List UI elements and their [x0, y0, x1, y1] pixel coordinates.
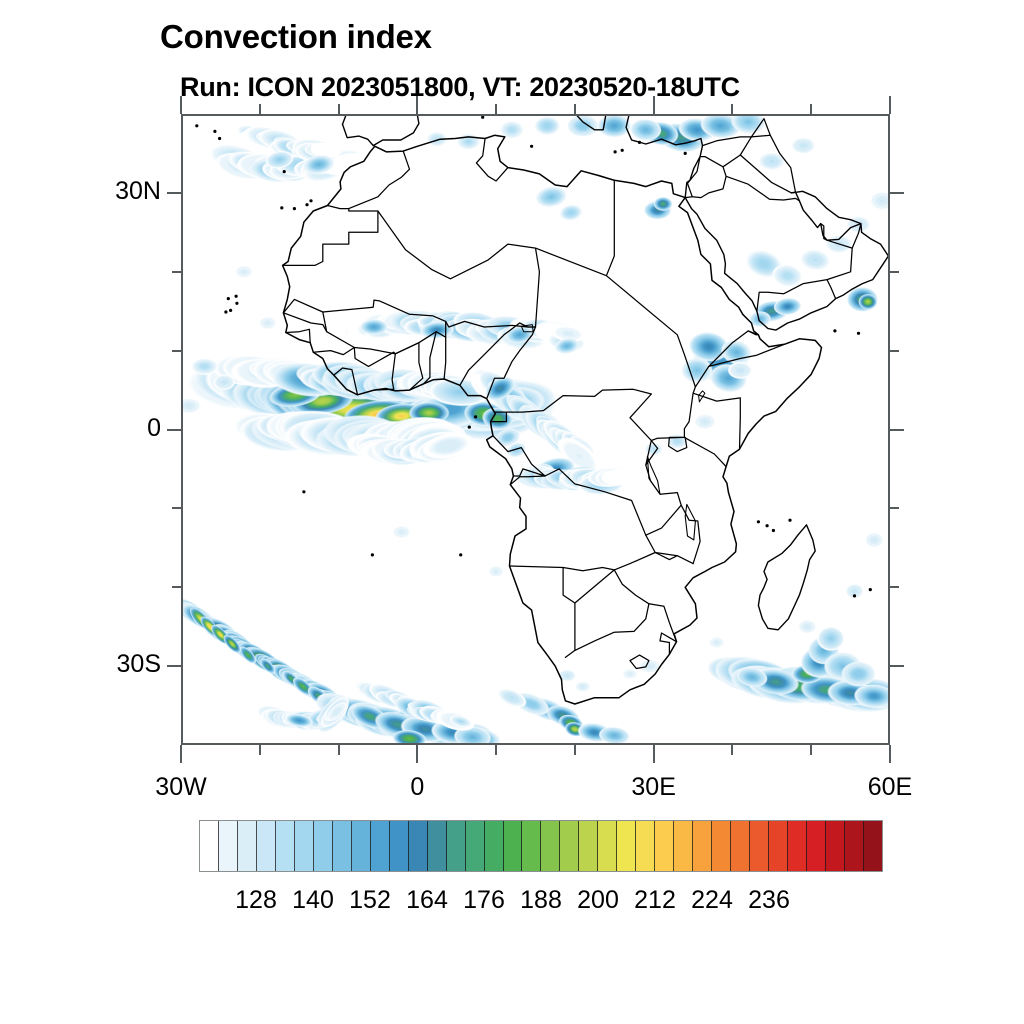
island-marker — [869, 588, 872, 591]
convection-blob — [257, 315, 279, 331]
country-border — [726, 176, 799, 201]
colorbar-cell — [617, 821, 636, 871]
colorbar-cell — [826, 821, 845, 871]
convection-blob — [841, 661, 876, 686]
convection-blob — [557, 202, 585, 224]
country-border — [684, 437, 726, 466]
colorbar-cell — [522, 821, 541, 871]
convection-blob — [870, 191, 891, 210]
country-border — [649, 604, 677, 642]
island-marker — [530, 145, 533, 148]
country-border — [313, 348, 354, 355]
convection-blob — [817, 626, 845, 651]
island-marker — [621, 149, 624, 152]
island-marker — [213, 130, 216, 133]
convection-field — [181, 114, 890, 745]
convection-blob — [487, 564, 506, 578]
y-tick-minor — [172, 350, 181, 352]
colorbar-cell — [428, 821, 447, 871]
x-tick-minor-top — [810, 104, 812, 114]
convection-blob — [391, 524, 413, 540]
convection-blob — [621, 668, 640, 681]
convection-blob — [575, 681, 591, 692]
colorbar-cell — [788, 821, 807, 871]
y-tick-minor-right — [890, 271, 899, 273]
country-border — [510, 566, 615, 571]
colorbar-cell — [314, 821, 333, 871]
x-tick-minor-top — [259, 104, 261, 114]
island-marker — [235, 295, 238, 298]
x-tick-major — [653, 745, 655, 763]
x-tick-minor-top — [495, 104, 497, 114]
island-marker — [293, 207, 296, 210]
island-marker — [474, 415, 477, 418]
colorbar-cell — [352, 821, 371, 871]
colorbar-cell — [655, 821, 674, 871]
y-axis-label: 0 — [21, 414, 161, 443]
x-tick-minor — [495, 745, 497, 755]
colorbar-cell — [504, 821, 523, 871]
island-marker — [218, 137, 221, 140]
colorbar-cell — [333, 821, 352, 871]
colorbar-cell — [636, 821, 655, 871]
colorbar-tick-label: 236 — [709, 886, 829, 915]
colorbar-cell — [769, 821, 788, 871]
colorbar-cell — [731, 821, 750, 871]
country-border — [827, 280, 836, 299]
x-tick-minor — [810, 745, 812, 755]
colorbar-cell — [864, 821, 882, 871]
island-marker — [757, 520, 760, 523]
country-border — [630, 394, 651, 441]
island-marker — [833, 329, 836, 332]
convection-blob — [233, 264, 255, 280]
x-tick-minor-top — [731, 104, 733, 114]
y-tick-minor — [172, 271, 181, 273]
colorbar-cell — [238, 821, 257, 871]
colorbar[interactable] — [199, 820, 883, 872]
map-plot-area[interactable] — [181, 114, 890, 745]
y-tick-minor-right — [890, 350, 899, 352]
colorbar-cell — [200, 821, 219, 871]
colorbar-cell — [390, 821, 409, 871]
island-marker — [468, 426, 471, 429]
x-tick-minor — [731, 745, 733, 755]
island-marker — [280, 206, 283, 209]
island-marker — [195, 124, 198, 127]
convection-blob — [694, 414, 716, 430]
colorbar-cell — [807, 821, 826, 871]
x-tick-major-top — [180, 96, 182, 114]
x-tick-minor — [338, 745, 340, 755]
y-tick-minor-right — [890, 507, 899, 509]
x-axis-label: 30W — [91, 773, 271, 802]
colorbar-cell — [560, 821, 579, 871]
convection-blob — [456, 133, 481, 150]
country-border — [536, 248, 540, 327]
convection-blob — [534, 184, 569, 210]
colorbar-cell — [579, 821, 598, 871]
island-marker — [227, 297, 230, 300]
colorbar-cell — [447, 821, 466, 871]
country-border — [575, 570, 649, 604]
country-border — [599, 176, 615, 181]
madagascar-coastline — [758, 525, 815, 630]
x-tick-major — [180, 745, 182, 763]
country-border — [283, 206, 378, 266]
x-tick-minor — [259, 745, 261, 755]
x-axis-label: 60E — [800, 773, 980, 802]
convection-blob — [567, 115, 599, 137]
island-marker — [638, 141, 641, 144]
country-border — [646, 535, 678, 559]
x-tick-major — [416, 745, 418, 763]
colorbar-cell — [371, 821, 390, 871]
x-tick-major — [889, 745, 891, 763]
run-valid-time-subtitle: Run: ICON 2023051800, VT: 20230520-18UTC — [180, 72, 740, 103]
island-marker — [309, 199, 312, 202]
y-tick-major-right — [890, 429, 904, 431]
y-tick-major — [167, 665, 181, 667]
convection-blob — [865, 532, 884, 548]
y-tick-major-right — [890, 192, 904, 194]
convection-blob — [728, 362, 753, 379]
colorbar-cell — [598, 821, 617, 871]
y-tick-minor — [172, 507, 181, 509]
x-tick-minor-top — [338, 104, 340, 114]
island-marker — [766, 524, 769, 527]
country-border — [476, 139, 508, 182]
island-marker — [224, 310, 227, 313]
convection-blob — [798, 620, 817, 634]
island-marker — [857, 332, 860, 335]
island-marker — [614, 150, 617, 153]
country-border — [575, 604, 649, 651]
country-border — [563, 568, 575, 658]
y-tick-major — [167, 192, 181, 194]
colorbar-cell — [295, 821, 314, 871]
country-border — [681, 505, 700, 563]
page-title: Convection index — [160, 18, 432, 56]
island-marker — [371, 553, 374, 556]
colorbar-cell — [409, 821, 428, 871]
x-axis-label: 30E — [564, 773, 744, 802]
country-border — [614, 553, 693, 570]
y-tick-major-right — [890, 665, 904, 667]
country-border — [685, 157, 700, 198]
country-border — [286, 329, 310, 342]
island-marker — [481, 116, 484, 119]
x-tick-minor — [574, 745, 576, 755]
convection-blob — [707, 635, 726, 649]
iberia-atlantic-coast — [343, 114, 408, 124]
convection-blob — [858, 294, 877, 310]
island-marker — [684, 152, 687, 155]
y-tick-major — [167, 429, 181, 431]
map-canvas — [181, 114, 890, 745]
island-marker — [305, 203, 308, 206]
convection-blob — [360, 319, 388, 335]
island-marker — [302, 490, 305, 493]
colorbar-cell — [219, 821, 238, 871]
colorbar-cell — [485, 821, 504, 871]
x-tick-major-top — [653, 96, 655, 114]
lake-malawi — [685, 504, 695, 540]
convection-blob — [758, 152, 786, 171]
colorbar-cell — [693, 821, 712, 871]
convection-blob — [798, 246, 833, 273]
y-tick-minor — [172, 586, 181, 588]
x-tick-major-top — [889, 96, 891, 114]
levant-coast — [685, 146, 702, 198]
convection-blob — [533, 116, 561, 137]
convection-blob — [681, 358, 713, 383]
x-axis-label: 0 — [327, 773, 507, 802]
y-tick-minor-right — [890, 586, 899, 588]
colorbar-cell — [466, 821, 485, 871]
colorbar-cell — [845, 821, 864, 871]
y-axis-label: 30S — [21, 650, 161, 679]
island-marker — [283, 170, 286, 173]
colorbar-cell — [712, 821, 731, 871]
x-tick-major-top — [416, 96, 418, 114]
country-border — [283, 313, 326, 332]
colorbar-cell — [257, 821, 276, 871]
y-axis-label: 30N — [21, 177, 161, 206]
island-marker — [229, 309, 232, 312]
convection-blob — [213, 374, 235, 390]
convection-blob — [190, 358, 218, 375]
country-border — [378, 180, 614, 278]
island-marker — [772, 529, 775, 532]
country-border — [646, 387, 696, 535]
x-tick-minor-top — [574, 104, 576, 114]
convection-blob — [791, 137, 816, 154]
island-marker — [235, 302, 238, 305]
colorbar-cell — [276, 821, 295, 871]
country-border — [395, 343, 419, 354]
colorbar-cell — [750, 821, 769, 871]
colorbar-cell — [674, 821, 693, 871]
convection-blob — [654, 197, 673, 211]
island-marker — [853, 594, 856, 597]
island-marker — [788, 519, 791, 522]
island-marker — [459, 553, 462, 556]
colorbar-cell — [541, 821, 560, 871]
